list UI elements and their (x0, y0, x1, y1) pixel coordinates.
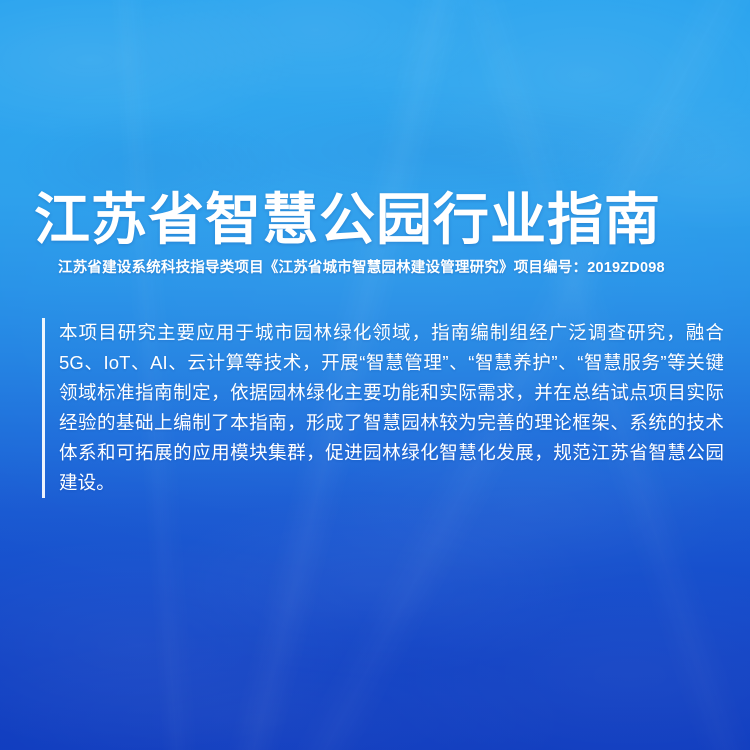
banner-body-block: 本项目研究主要应用于城市园林绿化领域，指南编制组经广泛调查研究，融合5G、IoT… (42, 318, 724, 498)
banner-title: 江苏省智慧公园行业指南 (34, 191, 661, 250)
banner-subtitle: 江苏省建设系统科技指导类项目《江苏省城市智慧园林建设管理研究》项目编号：2019… (58, 256, 665, 277)
banner-canvas: 江苏省智慧公园行业指南 江苏省建设系统科技指导类项目《江苏省城市智慧园林建设管理… (0, 0, 750, 750)
banner-body-text: 本项目研究主要应用于城市园林绿化领域，指南编制组经广泛调查研究，融合5G、IoT… (59, 318, 724, 498)
banner-content: 江苏省智慧公园行业指南 江苏省建设系统科技指导类项目《江苏省城市智慧园林建设管理… (0, 0, 750, 750)
